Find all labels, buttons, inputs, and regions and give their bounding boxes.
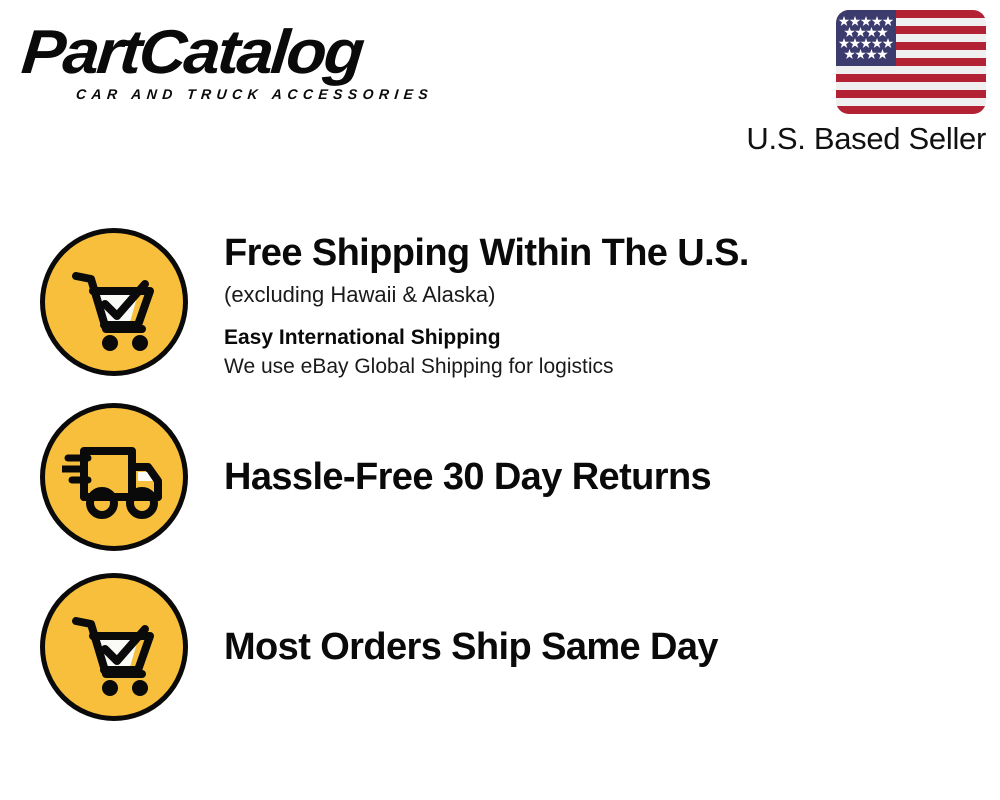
feature-text: Most Orders Ship Same Day: [192, 624, 1000, 670]
us-based-seller-badge: U.S. Based Seller: [718, 10, 986, 157]
shopping-cart-check-icon: [40, 228, 188, 376]
feature-row: Most Orders Ship Same Day: [0, 573, 1000, 721]
feature-subtitle: (excluding Hawaii & Alaska): [224, 280, 1000, 310]
feature-icon-wrap: [40, 228, 192, 376]
feature-note: We use eBay Global Shipping for logistic…: [224, 352, 1000, 381]
seller-label: U.S. Based Seller: [718, 121, 986, 157]
feature-strong-line: Easy International Shipping: [224, 324, 1000, 352]
us-flag-icon: [836, 10, 986, 114]
page-header: PartCatalog CAR AND TRUCK ACCESSORIES: [0, 0, 1000, 170]
feature-list: Free Shipping Within The U.S. (excluding…: [0, 228, 1000, 729]
brand-tagline: CAR AND TRUCK ACCESSORIES: [75, 86, 492, 102]
brand-logo[interactable]: PartCatalog CAR AND TRUCK ACCESSORIES: [22, 22, 492, 102]
feature-title: Most Orders Ship Same Day: [224, 624, 1000, 670]
feature-row: Hassle-Free 30 Day Returns: [0, 403, 1000, 551]
delivery-truck-icon: [40, 403, 188, 551]
feature-text: Free Shipping Within The U.S. (excluding…: [192, 228, 1000, 381]
feature-title: Hassle-Free 30 Day Returns: [224, 454, 1000, 500]
shopping-cart-check-icon: [40, 573, 188, 721]
feature-title: Free Shipping Within The U.S.: [224, 230, 1000, 276]
feature-icon-wrap: [40, 403, 192, 551]
feature-row: Free Shipping Within The U.S. (excluding…: [0, 228, 1000, 381]
feature-icon-wrap: [40, 573, 192, 721]
feature-text: Hassle-Free 30 Day Returns: [192, 454, 1000, 500]
brand-wordmark: PartCatalog: [19, 22, 523, 84]
